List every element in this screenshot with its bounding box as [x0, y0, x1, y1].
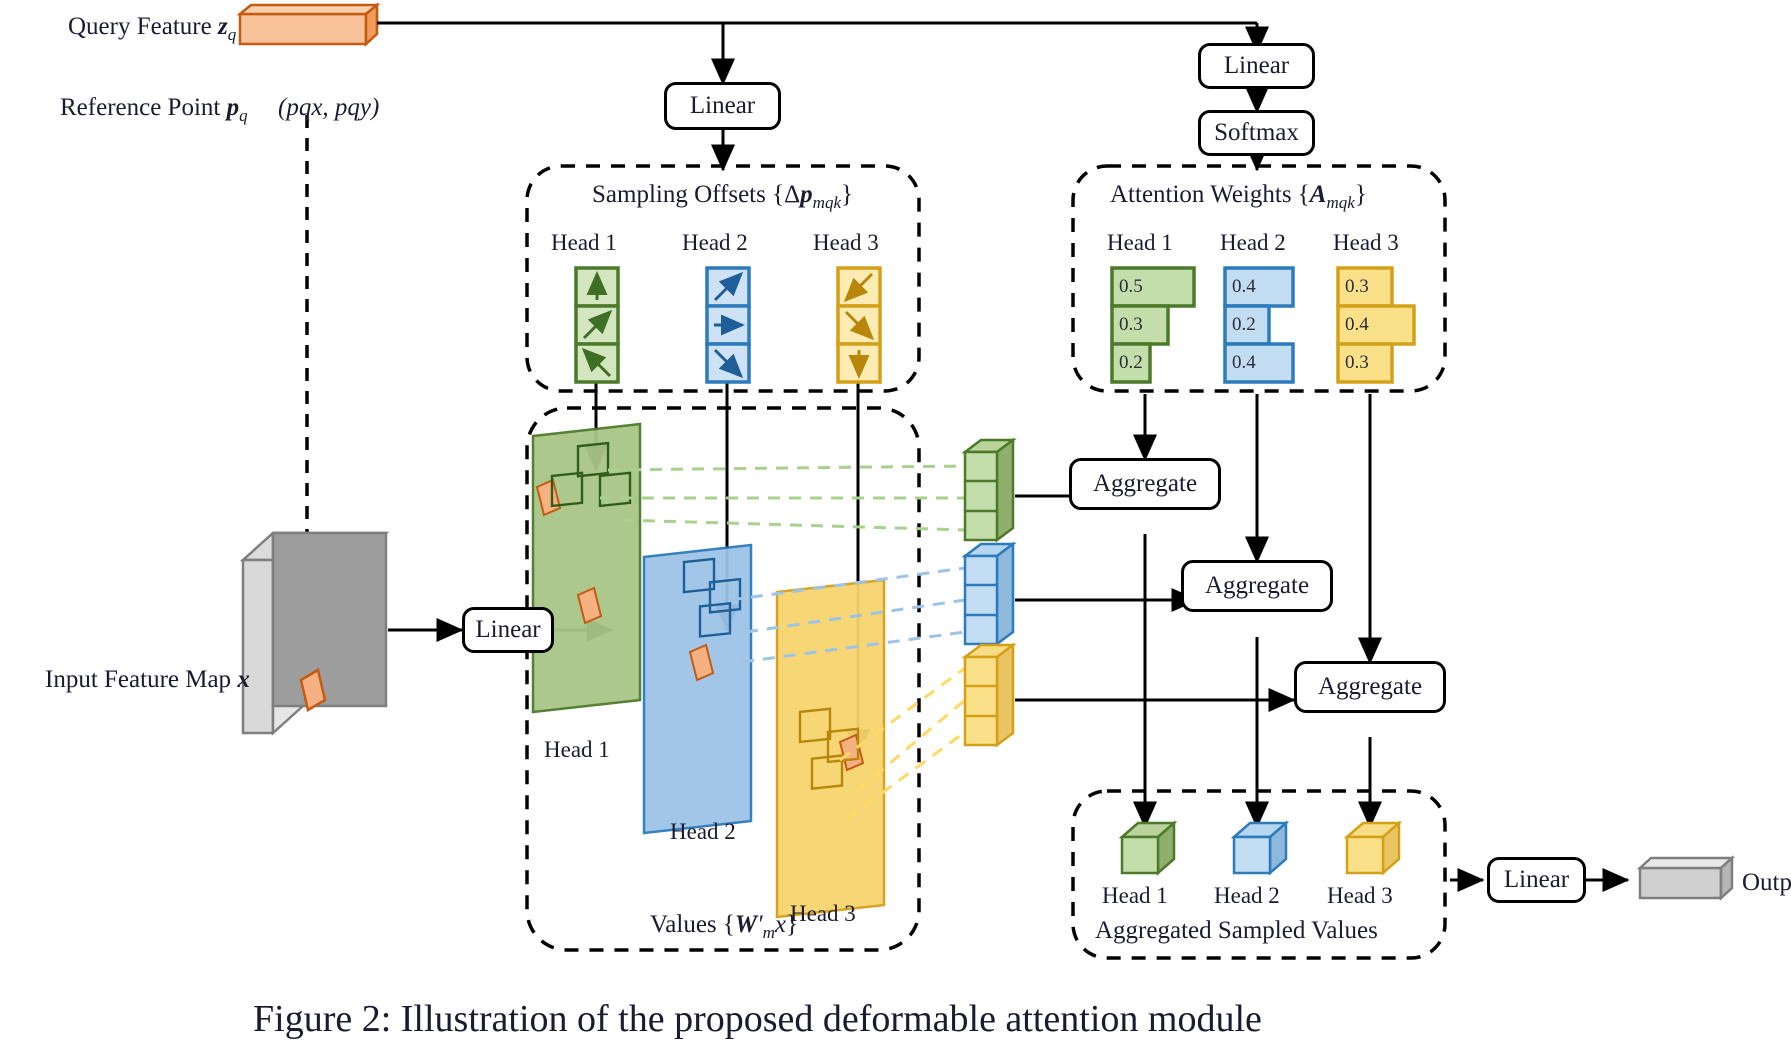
- input-feature-map-symbol: x: [237, 666, 250, 693]
- aggregated-head-1-label: Head 1: [1102, 884, 1168, 907]
- aggregate-box-2[interactable]: Aggregate: [1181, 560, 1333, 612]
- offset-cells-head-1: [576, 268, 618, 382]
- sampled-values-stack-head-1: [965, 440, 1013, 540]
- attention-weights-title-subscript: mqk: [1326, 193, 1354, 212]
- linear-attention-label: Linear: [1224, 52, 1289, 80]
- reference-point-coordinates: (pqx, pqy): [278, 95, 379, 120]
- values-title: Values {W′mx}: [650, 912, 798, 941]
- figure-caption: Figure 2: Illustration of the proposed d…: [253, 1000, 1262, 1038]
- aggregate-1-label: Aggregate: [1093, 470, 1197, 498]
- sampled-values-stack-head-3: [965, 645, 1013, 745]
- query-feature-subscript: q: [228, 25, 237, 44]
- linear-values-label: Linear: [475, 616, 540, 644]
- aggregated-cube-head-2: [1234, 823, 1286, 873]
- sampled-values-stack-head-2: [965, 544, 1013, 644]
- value-map-head-3-label: Head 3: [790, 902, 856, 925]
- aggregate-2-label: Aggregate: [1205, 572, 1309, 600]
- sampling-offsets-title-symbol: p: [800, 181, 813, 208]
- aggregate-box-1[interactable]: Aggregate: [1069, 458, 1221, 510]
- linear-output-label: Linear: [1504, 866, 1569, 894]
- aggregate-3-label: Aggregate: [1318, 673, 1422, 701]
- value-map-head-2: [644, 545, 751, 833]
- linear-offsets-box[interactable]: Linear: [664, 82, 781, 130]
- attn-value-h1-k2: 0.3: [1119, 315, 1143, 334]
- attn-value-h3-k2: 0.4: [1345, 315, 1369, 334]
- value-map-head-2-label: Head 2: [670, 820, 736, 843]
- attention-weights-title-prefix: Attention Weights {: [1110, 181, 1310, 208]
- linear-offsets-label: Linear: [690, 92, 755, 120]
- attention-weights-title-symbol: A: [1310, 181, 1327, 208]
- values-title-x: x: [775, 911, 786, 938]
- offsets-head-2-label: Head 2: [682, 231, 748, 254]
- attn-value-h3-k1: 0.3: [1345, 277, 1369, 296]
- offset-cells-head-3: [838, 268, 880, 382]
- values-title-symbol: W: [735, 911, 757, 938]
- offsets-head-1-label: Head 1: [551, 231, 617, 254]
- attn-head-3-label: Head 3: [1333, 231, 1399, 254]
- query-feature-block: [240, 5, 377, 44]
- query-feature-symbol: z: [218, 13, 228, 40]
- aggregated-cube-head-3: [1347, 823, 1399, 873]
- linear-output-box[interactable]: Linear: [1487, 857, 1586, 903]
- attn-value-h3-k3: 0.3: [1345, 353, 1369, 372]
- linear-values-box[interactable]: Linear: [462, 607, 554, 653]
- attn-head-2-label: Head 2: [1220, 231, 1286, 254]
- attention-weights-title-suffix: }: [1355, 181, 1367, 208]
- attn-value-h2-k1: 0.4: [1232, 277, 1256, 296]
- linear-attention-box[interactable]: Linear: [1198, 43, 1315, 89]
- reference-point-label: Reference Point pq: [60, 95, 248, 124]
- figure-canvas: Query Feature zq Reference Point pq (pqx…: [0, 0, 1791, 1064]
- attn-value-h1-k1: 0.5: [1119, 277, 1143, 296]
- softmax-label: Softmax: [1214, 119, 1299, 147]
- values-title-prefix: Values {: [650, 911, 735, 938]
- query-feature-text: Query Feature: [68, 13, 212, 40]
- sampling-offsets-title-prefix: Sampling Offsets {Δ: [592, 181, 800, 208]
- aggregated-sampled-values-title: Aggregated Sampled Values: [1095, 918, 1378, 943]
- attn-value-h2-k3: 0.4: [1232, 353, 1256, 372]
- value-map-head-3: [777, 580, 884, 917]
- values-title-subscript: m: [763, 923, 775, 942]
- sampling-offsets-title-subscript: mqk: [813, 193, 841, 212]
- reference-point-subscript: q: [239, 106, 248, 125]
- aggregated-head-3-label: Head 3: [1327, 884, 1393, 907]
- reference-point-text: Reference Point: [60, 94, 220, 121]
- softmax-box[interactable]: Softmax: [1198, 110, 1315, 156]
- aggregate-box-3[interactable]: Aggregate: [1294, 661, 1446, 713]
- input-feature-map-label: Input Feature Map x: [45, 667, 250, 692]
- output-label: Output: [1742, 870, 1791, 895]
- reference-point-symbol: p: [227, 94, 240, 121]
- offset-cells-head-2: [707, 268, 749, 382]
- attn-value-h2-k2: 0.2: [1232, 315, 1256, 334]
- value-map-head-1: [533, 424, 640, 712]
- value-map-head-1-label: Head 1: [544, 738, 610, 761]
- input-feature-map-text: Input Feature Map: [45, 666, 231, 693]
- query-feature-label: Query Feature zq: [68, 14, 236, 43]
- attn-head-1-label: Head 1: [1107, 231, 1173, 254]
- diagram-vector-layer: [0, 0, 1791, 1064]
- attention-weights-title: Attention Weights {Amqk}: [1110, 182, 1367, 211]
- offsets-head-3-label: Head 3: [813, 231, 879, 254]
- sampling-offsets-title-suffix: }: [841, 181, 853, 208]
- sampling-offsets-title: Sampling Offsets {Δpmqk}: [592, 182, 853, 211]
- input-feature-map-block: [243, 533, 386, 733]
- attn-value-h1-k3: 0.2: [1119, 353, 1143, 372]
- output-block: [1640, 858, 1732, 898]
- aggregated-head-2-label: Head 2: [1214, 884, 1280, 907]
- aggregated-cube-head-1: [1122, 823, 1174, 873]
